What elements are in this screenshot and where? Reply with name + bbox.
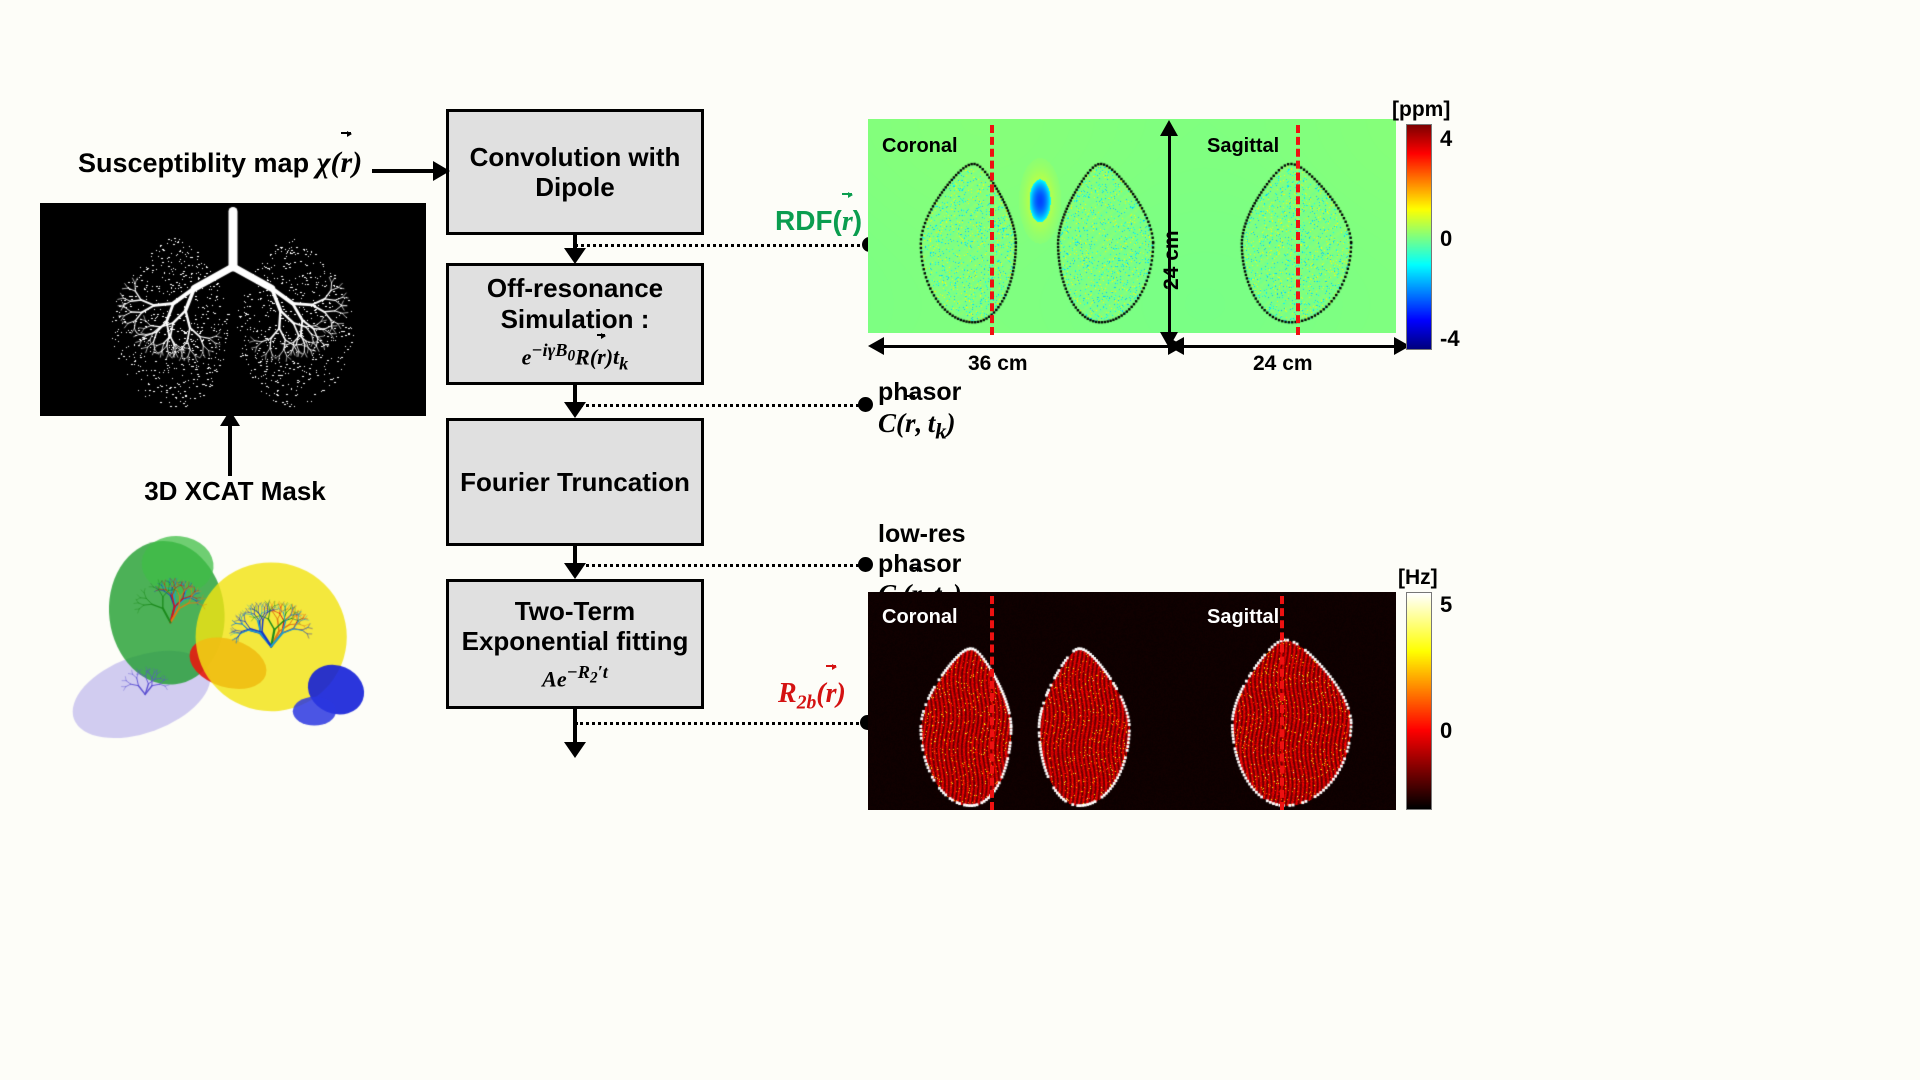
r2b-output-label: R2b(r) xyxy=(778,678,846,715)
connector-input-to-conv xyxy=(372,169,434,173)
flow-box-convolution-line1: Convolution with xyxy=(470,142,681,172)
two-term-fit-equation: Ae−R2′t xyxy=(542,662,608,692)
lowres-label-line1: low-res xyxy=(878,520,966,550)
flow-box-fit-line1: Two-Term xyxy=(462,596,689,626)
off-resonance-equation: e−iγB0R(r)tk xyxy=(522,340,629,375)
tap-bullet-lowres-phasor xyxy=(858,557,873,572)
figure-canvas: Susceptiblity map χ(r) 3D XCAT Mask Conv… xyxy=(0,0,1920,1080)
ppm-colorbar-unit: [ppm] xyxy=(1392,98,1450,122)
connector-fourier-to-fit xyxy=(573,546,577,564)
hz-colorbar xyxy=(1406,592,1432,810)
r2b-coronal-label: Coronal xyxy=(882,606,958,629)
ppm-colorbar-mid-tick: 0 xyxy=(1440,226,1452,252)
flow-box-convolution[interactable]: Convolution with Dipole xyxy=(446,109,704,235)
rdf-height-dimension-label: 24 cm xyxy=(1160,230,1184,290)
ppm-colorbar-max-tick: 4 xyxy=(1440,126,1452,152)
rdf-sagittal-width-label: 24 cm xyxy=(1253,352,1313,376)
rdf-output-label: RDF(r) xyxy=(775,205,862,238)
phasor-output-label: phasor C(r, tk) xyxy=(878,378,961,444)
tap-line-phasor xyxy=(575,404,865,407)
binary-lung-mask-image xyxy=(40,203,426,416)
r2b-sagittal-dashed-line xyxy=(1280,596,1284,810)
r2b-sagittal-label: Sagittal xyxy=(1207,606,1279,629)
rdf-coronal-width-arrow xyxy=(883,345,1169,348)
r2b-coronal-dashed-line xyxy=(990,596,994,810)
rdf-coronal-dashed-line xyxy=(990,125,994,335)
flow-box-fourier-line1: Fourier Truncation xyxy=(460,467,690,497)
rdf-coronal-label: Coronal xyxy=(882,135,958,158)
vector-r-symbol: r xyxy=(341,146,353,180)
rdf-sagittal-label: Sagittal xyxy=(1207,135,1279,158)
flow-box-fit-line2: Exponential fitting xyxy=(462,626,689,656)
flow-box-off-resonance-line1: Off-resonance xyxy=(487,273,663,303)
tap-bullet-phasor xyxy=(858,397,873,412)
phasor-label-line1: phasor xyxy=(878,378,961,408)
chi-symbol: χ xyxy=(317,146,331,179)
rdf-sagittal-dashed-line xyxy=(1296,125,1300,335)
tap-line-r2b xyxy=(575,722,870,725)
ppm-colorbar-min-tick: -4 xyxy=(1440,326,1460,352)
connector-fit-output xyxy=(573,709,577,743)
connector-offres-to-fourier xyxy=(573,385,577,403)
lowres-label-line2: phasor xyxy=(878,550,966,580)
hz-colorbar-mid-tick: 0 xyxy=(1440,718,1452,744)
flow-box-off-resonance-line2: Simulation : xyxy=(487,304,663,334)
xcat-mask-label: 3D XCAT Mask xyxy=(40,476,430,507)
flow-box-off-resonance[interactable]: Off-resonance Simulation : e−iγB0R(r)tk xyxy=(446,263,704,385)
flow-box-two-term-fitting[interactable]: Two-Term Exponential fitting Ae−R2′t xyxy=(446,579,704,709)
susceptibility-map-label: Susceptiblity map χ(r) xyxy=(78,146,478,180)
hz-colorbar-unit: [Hz] xyxy=(1398,566,1438,590)
mask-upward-arrow xyxy=(228,424,232,476)
phasor-label-equation: C(r, tk) xyxy=(878,408,961,445)
flow-box-fourier-truncation[interactable]: Fourier Truncation xyxy=(446,418,704,546)
xcat-3d-render-image xyxy=(48,512,408,752)
ppm-colorbar xyxy=(1406,124,1432,350)
tap-line-lowres-phasor xyxy=(575,564,865,567)
rdf-coronal-width-label: 36 cm xyxy=(968,352,1028,376)
rdf-sagittal-width-arrow xyxy=(1183,345,1395,348)
susceptibility-map-text: Susceptiblity map xyxy=(78,148,317,178)
hz-colorbar-max-tick: 5 xyxy=(1440,592,1452,618)
flow-box-convolution-line2: Dipole xyxy=(470,172,681,202)
